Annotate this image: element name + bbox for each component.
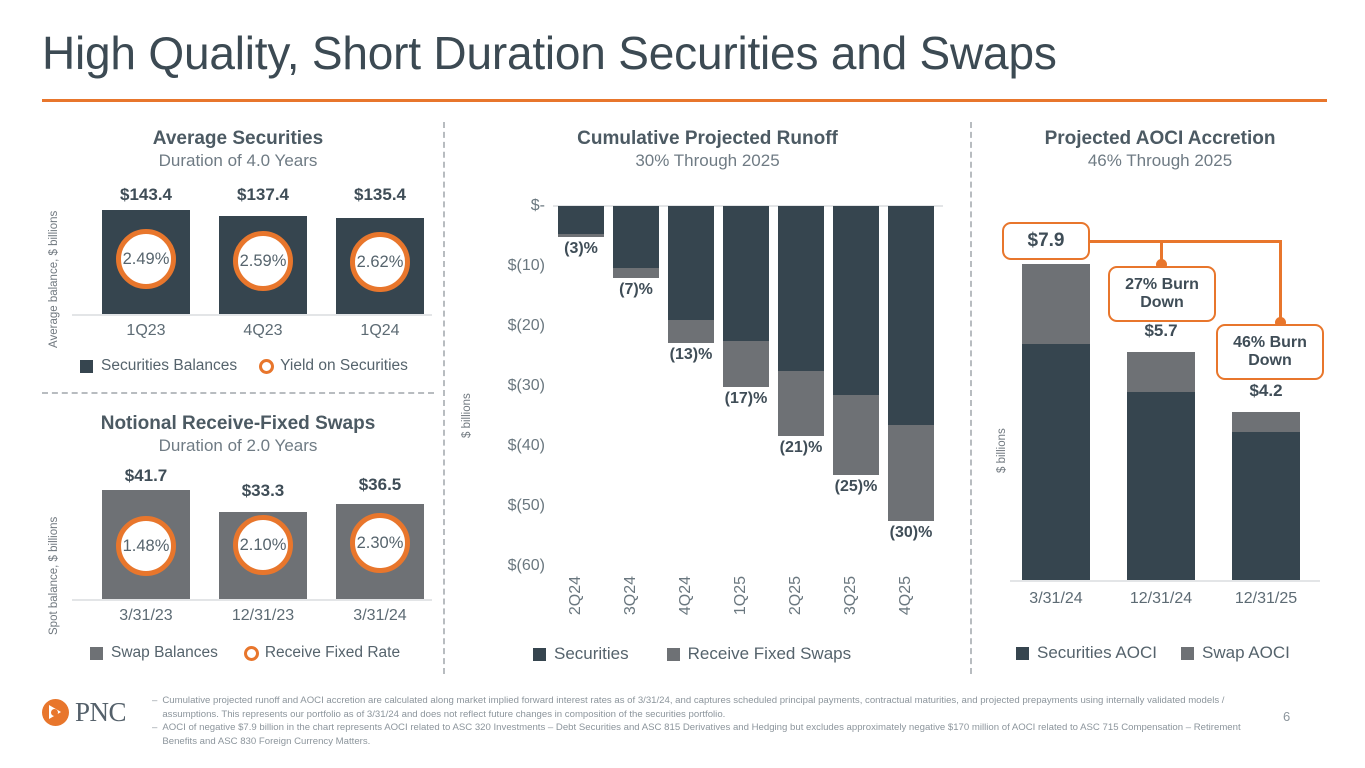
- x-tick-label: 3/31/23: [96, 607, 196, 625]
- x-tick-label: 4Q23: [213, 322, 313, 340]
- segment-securities: [558, 206, 604, 234]
- bar-runoff-3q24: [613, 206, 659, 278]
- chart-legend: Securities Balances Yield on Securities: [80, 357, 408, 375]
- bar-aoci-33124: [1022, 264, 1090, 580]
- bar-runoff-1q25: [723, 206, 769, 387]
- bar-aoci-123124: [1127, 352, 1195, 580]
- chart-projected-aoci-accretion: Projected AOCI Accretion 46% Through 202…: [980, 128, 1340, 673]
- data-label: (30)%: [878, 524, 944, 542]
- bar-runoff-4q25: [888, 206, 934, 521]
- pnc-arrow-icon: [42, 699, 69, 726]
- y-tick-label: $(60): [477, 557, 545, 575]
- bar-runoff-2q25: [778, 206, 824, 436]
- data-label: (3)%: [548, 240, 614, 258]
- chart-title: Cumulative Projected Runoff: [455, 128, 960, 150]
- legend-label: Securities: [554, 644, 629, 664]
- bar-value-label: $33.3: [213, 481, 313, 501]
- y-axis-title: $ billions: [996, 393, 1008, 473]
- y-axis-title: Spot balance, $ billions: [48, 475, 60, 635]
- pnc-logo: PNC: [42, 697, 126, 728]
- segment-securities-aoci: [1232, 432, 1300, 580]
- chart-title: Projected AOCI Accretion: [980, 128, 1340, 150]
- legend-label: Swap AOCI: [1202, 643, 1290, 663]
- bar-runoff-2q24: [558, 206, 604, 237]
- x-axis-baseline: [1010, 580, 1320, 582]
- rate-donut-123123: 2.10%: [233, 515, 293, 575]
- chart-title: Notional Receive-Fixed Swaps: [42, 413, 434, 435]
- title-underline: [42, 99, 1327, 102]
- legend-label: Receive Fixed Rate: [265, 644, 400, 662]
- x-tick-label: 12/31/23: [213, 607, 313, 625]
- chart-title: Average Securities: [42, 128, 434, 150]
- segment-securities-aoci: [1127, 392, 1195, 580]
- divider-center-right: [970, 122, 972, 674]
- page-title: High Quality, Short Duration Securities …: [42, 26, 1057, 80]
- callout-burn-down-2025[interactable]: 46% Burn Down: [1216, 324, 1324, 380]
- yield-donut-1q23: 2.49%: [116, 229, 176, 289]
- bar-runoff-4q24: [668, 206, 714, 343]
- legend-swatch-swap-balances: [90, 647, 103, 660]
- legend-ring-yield-on-securities: [259, 359, 274, 374]
- x-tick-label: 2Q24: [567, 576, 585, 615]
- chart-subtitle: Duration of 4.0 Years: [42, 151, 434, 171]
- legend-label: Securities AOCI: [1037, 643, 1157, 663]
- bar-value-label: $135.4: [330, 185, 430, 205]
- segment-swap-aoci: [1232, 412, 1300, 432]
- footnote-marker: –: [152, 694, 157, 721]
- yield-donut-1q24: 2.62%: [350, 232, 410, 292]
- pnc-wordmark: PNC: [75, 697, 126, 728]
- legend-label: Yield on Securities: [280, 357, 408, 375]
- bar-runoff-3q25: [833, 206, 879, 475]
- segment-securities: [833, 206, 879, 395]
- data-label: (21)%: [768, 439, 834, 457]
- chart-subtitle: 46% Through 2025: [980, 151, 1340, 171]
- data-label: (17)%: [713, 390, 779, 408]
- x-axis-baseline: [72, 314, 432, 316]
- segment-securities: [668, 206, 714, 320]
- legend-swatch-securities: [533, 648, 546, 661]
- chart-average-securities: Average Securities Duration of 4.0 Years…: [42, 128, 434, 386]
- chart-legend: Securities AOCI Swap AOCI: [1016, 643, 1290, 663]
- rate-donut-33124: 2.30%: [350, 513, 410, 573]
- y-axis-title: Average balance, $ billions: [48, 188, 60, 348]
- rate-donut-33123: 1.48%: [116, 516, 176, 576]
- bar-value-label: $4.2: [1217, 381, 1315, 401]
- legend-label: Securities Balances: [101, 357, 237, 375]
- x-tick-label: 4Q25: [897, 576, 915, 615]
- footnote-item: – AOCI of negative $7.9 billion in the c…: [152, 721, 1262, 748]
- legend-swatch-securities-aoci: [1016, 647, 1029, 660]
- bar-aoci-123125: [1232, 412, 1300, 580]
- x-tick-label: 3Q25: [842, 576, 860, 615]
- legend-swatch-swap-aoci: [1181, 647, 1194, 660]
- x-tick-label: 1Q23: [96, 322, 196, 340]
- x-axis-baseline: [72, 599, 432, 601]
- callout-total-aoci[interactable]: $7.9: [1002, 222, 1090, 260]
- chart-subtitle: 30% Through 2025: [455, 151, 960, 171]
- callout-connector-horizontal: [1088, 240, 1282, 243]
- slide: High Quality, Short Duration Securities …: [0, 0, 1365, 768]
- x-tick-label: 2Q25: [787, 576, 805, 615]
- y-tick-label: $(50): [477, 497, 545, 515]
- x-tick-label: 3/31/24: [1006, 590, 1106, 608]
- y-tick-label: $(30): [477, 377, 545, 395]
- x-tick-label: 1Q25: [732, 576, 750, 615]
- chart-legend: Swap Balances Receive Fixed Rate: [90, 644, 400, 662]
- x-tick-label: 4Q24: [677, 576, 695, 615]
- chart-legend: Securities Receive Fixed Swaps: [533, 644, 851, 664]
- footnote-marker: –: [152, 721, 157, 748]
- bar-value-label: $41.7: [96, 466, 196, 486]
- footnote-item: – Cumulative projected runoff and AOCI a…: [152, 694, 1262, 721]
- bar-value-label: $143.4: [96, 185, 196, 205]
- bar-value-label: $137.4: [213, 185, 313, 205]
- segment-swap-aoci: [1127, 352, 1195, 392]
- segment-receive-fixed-swaps: [558, 234, 604, 238]
- data-label: (25)%: [823, 478, 889, 496]
- segment-securities-aoci: [1022, 344, 1090, 580]
- footnotes: – Cumulative projected runoff and AOCI a…: [152, 694, 1262, 748]
- segment-receive-fixed-swaps: [833, 395, 879, 475]
- x-tick-label: 3/31/24: [330, 607, 430, 625]
- bar-value-label: $5.7: [1112, 321, 1210, 341]
- divider-left-center: [443, 122, 445, 674]
- data-label: (13)%: [658, 346, 724, 364]
- segment-swap-aoci: [1022, 264, 1090, 344]
- legend-label: Receive Fixed Swaps: [688, 644, 851, 664]
- yield-donut-4q23: 2.59%: [233, 231, 293, 291]
- legend-ring-receive-fixed-rate: [244, 646, 259, 661]
- segment-receive-fixed-swaps: [778, 371, 824, 436]
- segment-securities: [723, 206, 769, 341]
- x-tick-label: 1Q24: [330, 322, 430, 340]
- segment-receive-fixed-swaps: [613, 268, 659, 278]
- chart-notional-receive-fixed-swaps: Notional Receive-Fixed Swaps Duration of…: [42, 413, 434, 671]
- chart-subtitle: Duration of 2.0 Years: [42, 436, 434, 456]
- x-tick-label: 12/31/24: [1111, 590, 1211, 608]
- segment-receive-fixed-swaps: [723, 341, 769, 387]
- legend-swatch-receive-fixed-swaps: [667, 648, 680, 661]
- bar-value-label: $36.5: [330, 475, 430, 495]
- segment-receive-fixed-swaps: [668, 320, 714, 343]
- footnote-text: AOCI of negative $7.9 billion in the cha…: [162, 721, 1262, 748]
- segment-securities: [613, 206, 659, 268]
- y-tick-label: $-: [477, 197, 545, 215]
- page-number: 6: [1283, 709, 1290, 724]
- segment-securities: [888, 206, 934, 425]
- y-tick-label: $(40): [477, 437, 545, 455]
- x-tick-label: 12/31/25: [1216, 590, 1316, 608]
- divider-left-panels: [42, 392, 434, 394]
- legend-label: Swap Balances: [111, 644, 218, 662]
- callout-burn-down-2024[interactable]: 27% Burn Down: [1108, 266, 1216, 322]
- footnote-text: Cumulative projected runoff and AOCI acc…: [162, 694, 1262, 721]
- legend-swatch-securities-balances: [80, 360, 93, 373]
- x-tick-label: 3Q24: [622, 576, 640, 615]
- y-tick-label: $(10): [477, 257, 545, 275]
- chart-cumulative-projected-runoff: Cumulative Projected Runoff 30% Through …: [455, 128, 960, 673]
- segment-securities: [778, 206, 824, 371]
- y-axis-title: $ billions: [461, 358, 473, 438]
- data-label: (7)%: [603, 281, 669, 299]
- callout-connector-drop-2025: [1279, 240, 1282, 322]
- segment-receive-fixed-swaps: [888, 425, 934, 521]
- y-tick-label: $(20): [477, 317, 545, 335]
